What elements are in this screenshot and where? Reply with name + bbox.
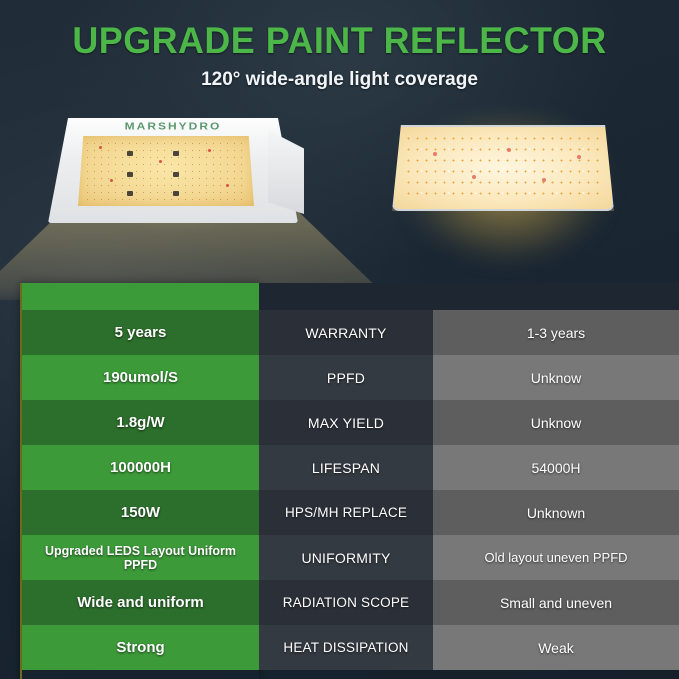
page-subtitle: 120° wide-angle light coverage <box>0 69 679 91</box>
table-cell-ours: 190umol/S <box>22 355 259 400</box>
table-cell-feature: UNIFORMITY <box>259 535 433 580</box>
table-cell-ours: Strong <box>22 625 259 670</box>
led-diode-grid-left <box>84 140 248 202</box>
table-cell-theirs: Old layout uneven PPFD <box>433 535 679 580</box>
table-header-feature <box>259 283 433 310</box>
table-cell-feature: PPFD <box>259 355 433 400</box>
table-cell-theirs: Unknown <box>433 490 679 535</box>
table-cell-theirs: 54000H <box>433 445 679 490</box>
table-cell-feature: WARRANTY <box>259 310 433 355</box>
table-cell-feature: HPS/MH REPLACE <box>259 490 433 535</box>
table-header-theirs <box>433 283 679 310</box>
led-board-left <box>78 136 254 206</box>
brand-label: MARSHYDRO <box>125 120 222 132</box>
table-cell-ours: Upgraded LEDS Layout Uniform PPFD <box>22 535 259 580</box>
led-diode-grid-right <box>404 133 602 203</box>
table-cell-theirs: Unknow <box>433 400 679 445</box>
product-image-right <box>392 125 614 211</box>
led-board-right <box>392 125 614 211</box>
table-cell-feature: RADIATION SCOPE <box>259 580 433 625</box>
table-cell-ours: 150W <box>22 490 259 535</box>
comparison-table: 5 years 190umol/S 1.8g/W 100000H 150W Up… <box>20 283 679 679</box>
table-cell-theirs: Unknow <box>433 355 679 400</box>
table-column-theirs: 1-3 years Unknow Unknow 54000H Unknown O… <box>433 283 679 679</box>
table-cell-feature: LIFESPAN <box>259 445 433 490</box>
table-cell-ours: 5 years <box>22 310 259 355</box>
table-column-ours: 5 years 190umol/S 1.8g/W 100000H 150W Up… <box>20 283 259 679</box>
table-header-ours <box>22 283 259 310</box>
table-cell-theirs: 1-3 years <box>433 310 679 355</box>
header: UPGRADE PAINT REFLECTOR 120° wide-angle … <box>0 0 679 91</box>
table-cell-theirs: Weak <box>433 625 679 670</box>
table-cell-ours: 1.8g/W <box>22 400 259 445</box>
product-image-left: MARSHYDRO <box>48 118 298 223</box>
table-cell-ours: 100000H <box>22 445 259 490</box>
table-cell-theirs: Small and uneven <box>433 580 679 625</box>
table-cell-ours: Wide and uniform <box>22 580 259 625</box>
table-column-feature: WARRANTY PPFD MAX YIELD LIFESPAN HPS/MH … <box>259 283 433 679</box>
page-title: UPGRADE PAINT REFLECTOR <box>10 20 669 62</box>
table-cell-feature: HEAT DISSIPATION <box>259 625 433 670</box>
table-cell-feature: MAX YIELD <box>259 400 433 445</box>
